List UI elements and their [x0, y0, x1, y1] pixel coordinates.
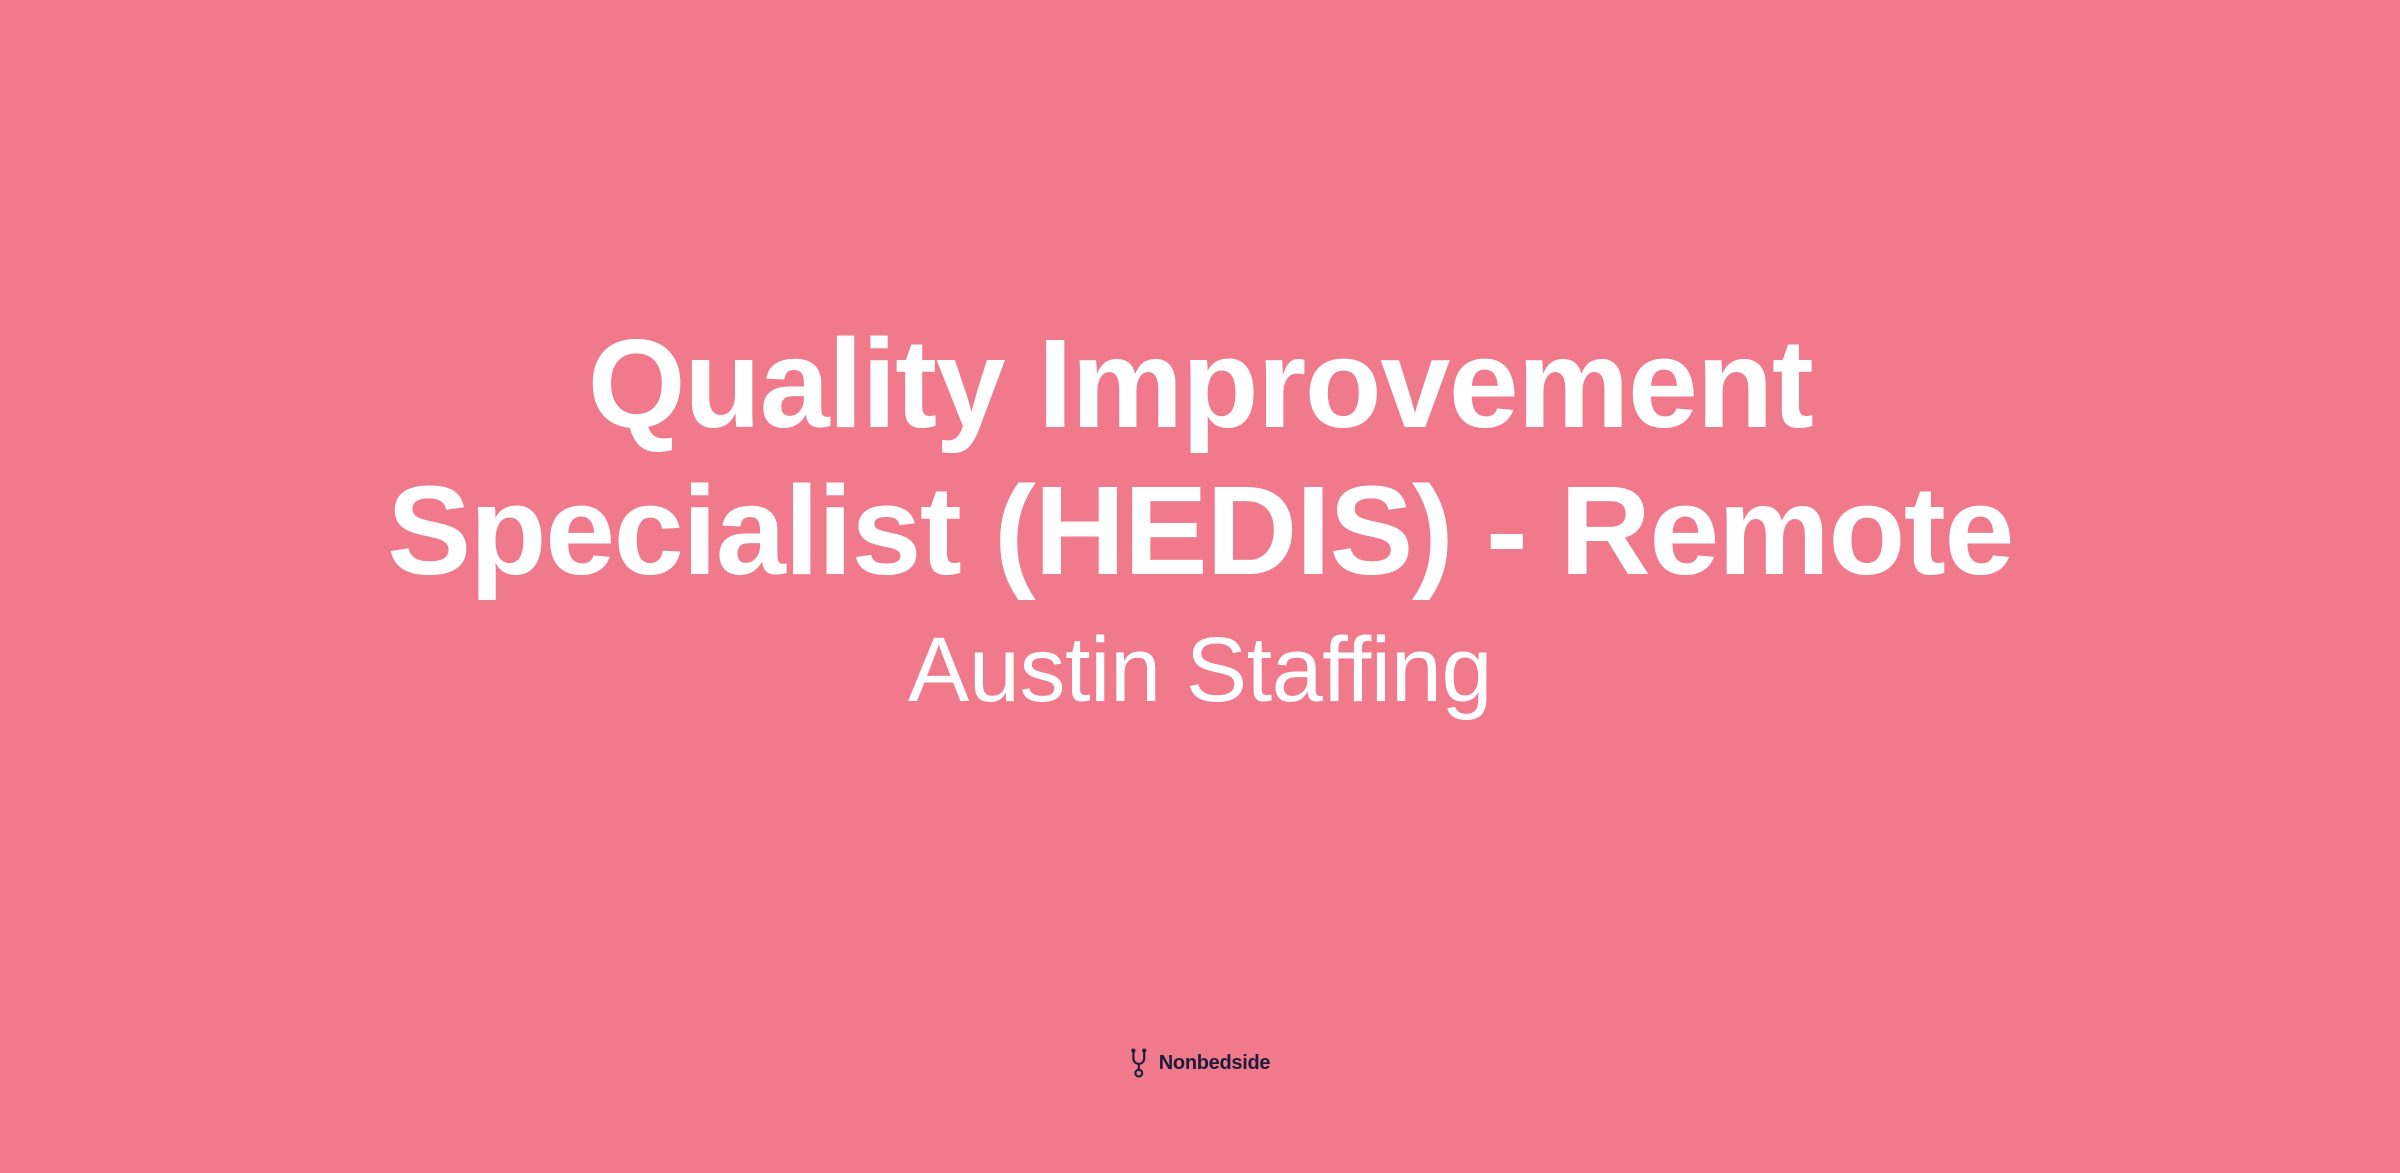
brand-name: Nonbedside	[1159, 1052, 1270, 1074]
job-posting-slide: Quality Improvement Specialist (HEDIS) -…	[0, 0, 2400, 1173]
brand-lockup: Nonbedside	[0, 1048, 2400, 1078]
company-name: Austin Staffing	[908, 614, 1492, 726]
page-title: Quality Improvement Specialist (HEDIS) -…	[300, 310, 2100, 604]
stethoscope-icon	[1130, 1048, 1152, 1078]
hero-section: Quality Improvement Specialist (HEDIS) -…	[0, 310, 2400, 726]
